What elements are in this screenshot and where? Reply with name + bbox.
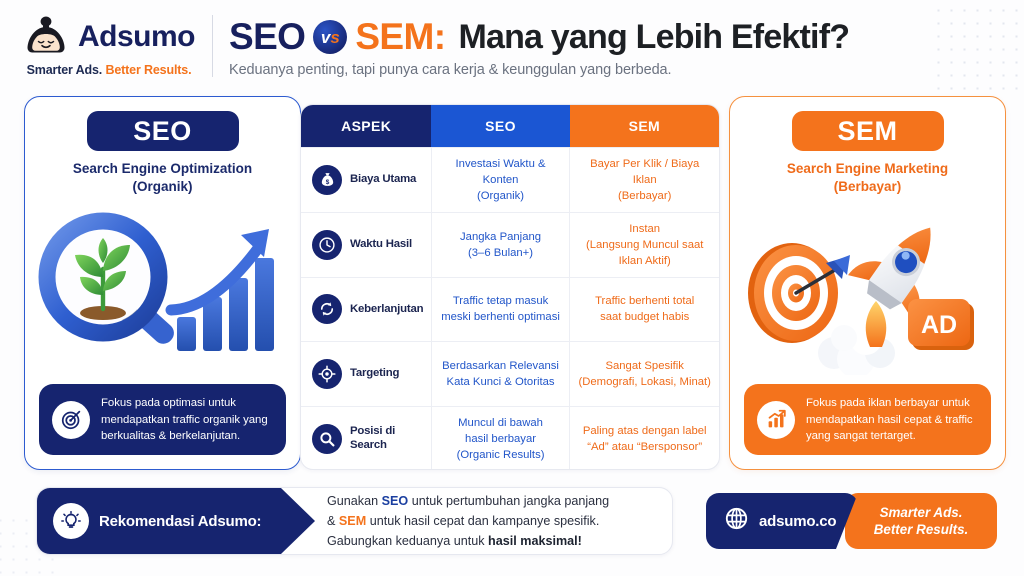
title-seo: SEO bbox=[229, 16, 305, 58]
table-cell-sem: Sangat Spesifik (Demografi, Lokasi, Mina… bbox=[570, 342, 719, 406]
seo-card-subtitle-line1: Search Engine Optimization bbox=[25, 160, 300, 178]
website-button[interactable]: adsumo.co bbox=[706, 493, 858, 549]
table-header-seo: SEO bbox=[431, 105, 569, 147]
table-cell-seo: Jangka Panjang (3–6 Bulan+) bbox=[432, 213, 571, 277]
website-label: adsumo.co bbox=[759, 513, 836, 530]
sem-callout-text: Fokus pada iklan berbayar untuk mendapat… bbox=[806, 395, 978, 444]
table-row: Posisi di Search Muncul di bawah hasil b… bbox=[301, 406, 719, 470]
table-cell-seo: Traffic tetap masuk meski berhenti optim… bbox=[432, 278, 571, 342]
recommendation-bar: Rekomendasi Adsumo: Gunakan SEO untuk pe… bbox=[36, 487, 673, 555]
crosshair-target-icon bbox=[312, 359, 342, 389]
table-cell-aspect: Posisi di Search bbox=[301, 407, 432, 470]
rec-line3-bold: hasil maksimal! bbox=[488, 534, 582, 548]
table-cell-sem: Bayar Per Klik / Biaya Iklan (Berbayar) bbox=[570, 148, 719, 212]
header-divider bbox=[212, 15, 213, 77]
brand-tagline-a: Smarter Ads. bbox=[27, 63, 103, 77]
vs-badge-s: s bbox=[330, 29, 339, 46]
magnifier-icon bbox=[312, 424, 342, 454]
vs-badge-v: v bbox=[321, 29, 330, 46]
sem-callout: Fokus pada iklan berbayar untuk mendapat… bbox=[744, 384, 991, 455]
table-cell-seo: Investasi Waktu & Konten (Organik) bbox=[432, 148, 571, 212]
brand-tagline: Smarter Ads. Better Results. bbox=[27, 63, 192, 77]
clock-icon bbox=[312, 230, 342, 260]
brand-logo[interactable]: Adsumo Smarter Ads. Better Results. bbox=[0, 0, 212, 92]
sem-card: SEM Search Engine Marketing (Berbayar) bbox=[729, 96, 1006, 470]
recommendation-label-block: Rekomendasi Adsumo: bbox=[37, 488, 315, 554]
rec-line2-post: untuk hasil cepat dan kampanye spesifik. bbox=[366, 514, 599, 528]
table-aspect-label: Targeting bbox=[350, 367, 399, 381]
table-cell-aspect: Waktu Hasil bbox=[301, 213, 432, 277]
seo-card-pill: SEO bbox=[87, 111, 239, 151]
footer-tagline-line1: Smarter Ads. bbox=[880, 504, 963, 521]
sem-card-subtitle: Search Engine Marketing (Berbayar) bbox=[730, 160, 1005, 196]
rec-line1-post: untuk pertumbuhan jangka panjang bbox=[408, 494, 609, 508]
comparison-table: ASPEK SEO SEM $ Biaya Utama Investasi Wa… bbox=[300, 104, 720, 470]
growth-bar-chart-icon bbox=[757, 401, 795, 439]
table-cell-aspect: $ Biaya Utama bbox=[301, 148, 432, 212]
table-aspect-label: Waktu Hasil bbox=[350, 238, 412, 252]
footer-tagline-button[interactable]: Smarter Ads. Better Results. bbox=[845, 493, 997, 549]
refresh-cycle-icon bbox=[312, 294, 342, 324]
target-icon bbox=[52, 401, 90, 439]
title-rest: Mana yang Lebih Efektif? bbox=[458, 18, 849, 57]
title-sem: SEM: bbox=[355, 16, 445, 58]
rec-line2-pre: & bbox=[327, 514, 339, 528]
table-cell-sem: Paling atas dengan label “Ad” atau “Bers… bbox=[570, 407, 719, 470]
recommendation-line-3: Gabungkan keduanya untuk hasil maksimal! bbox=[327, 532, 672, 550]
sem-card-subtitle-line2: (Berbayar) bbox=[730, 178, 1005, 196]
rec-line2-sem: SEM bbox=[339, 514, 366, 528]
lightbulb-icon bbox=[53, 503, 89, 539]
seo-card-subtitle: Search Engine Optimization (Organik) bbox=[25, 160, 300, 196]
vs-badge-icon: vs bbox=[313, 20, 347, 54]
table-aspect-label: Keberlanjutan bbox=[350, 303, 423, 317]
seo-callout-text: Fokus pada optimasi untuk mendapatkan tr… bbox=[101, 395, 273, 444]
sumo-mascot-icon bbox=[23, 15, 69, 59]
header-subtitle: Keduanya penting, tapi punya cara kerja … bbox=[229, 62, 849, 78]
table-row: Keberlanjutan Traffic tetap masuk meski … bbox=[301, 277, 719, 342]
table-cell-sem: Traffic berhenti total saat budget habis bbox=[570, 278, 719, 342]
brand-name: Adsumo bbox=[78, 20, 195, 54]
page-title: SEO vs SEM: Mana yang Lebih Efektif? bbox=[229, 16, 849, 58]
table-header-aspek: ASPEK bbox=[301, 105, 431, 147]
rec-line3-pre: Gabungkan keduanya untuk bbox=[327, 534, 488, 548]
recommendation-line-2: & SEM untuk hasil cepat dan kampanye spe… bbox=[327, 512, 672, 530]
table-cell-aspect: Targeting bbox=[301, 342, 432, 406]
recommendation-label: Rekomendasi Adsumo: bbox=[99, 513, 261, 530]
seo-illustration bbox=[25, 205, 300, 375]
table-cell-sem: Instan (Langsung Muncul saat Iklan Aktif… bbox=[570, 213, 719, 277]
table-aspect-label: Biaya Utama bbox=[350, 173, 416, 187]
rec-line1-pre: Gunakan bbox=[327, 494, 382, 508]
seo-card: SEO Search Engine Optimization (Organik) bbox=[24, 96, 301, 470]
infographic-canvas: Adsumo Smarter Ads. Better Results. SEO … bbox=[0, 0, 1024, 576]
brand-tagline-b: Better Results. bbox=[105, 63, 191, 77]
money-bag-icon: $ bbox=[312, 165, 342, 195]
table-cell-aspect: Keberlanjutan bbox=[301, 278, 432, 342]
svg-text:AD: AD bbox=[921, 311, 957, 339]
svg-text:$: $ bbox=[325, 179, 329, 186]
globe-icon bbox=[724, 506, 749, 536]
recommendation-text-block: Gunakan SEO untuk pertumbuhan jangka pan… bbox=[315, 488, 672, 554]
table-row: Targeting Berdasarkan Relevansi Kata Kun… bbox=[301, 341, 719, 406]
seo-card-subtitle-line2: (Organik) bbox=[25, 178, 300, 196]
table-row: Waktu Hasil Jangka Panjang (3–6 Bulan+) … bbox=[301, 212, 719, 277]
header-title-block: SEO vs SEM: Mana yang Lebih Efektif? Ked… bbox=[229, 14, 849, 78]
sem-card-pill: SEM bbox=[792, 111, 944, 151]
seo-callout: Fokus pada optimasi untuk mendapatkan tr… bbox=[39, 384, 286, 455]
table-header-sem: SEM bbox=[570, 105, 719, 147]
table-cell-seo: Muncul di bawah hasil berbayar (Organic … bbox=[432, 407, 571, 470]
rec-line1-seo: SEO bbox=[382, 494, 409, 508]
recommendation-line-1: Gunakan SEO untuk pertumbuhan jangka pan… bbox=[327, 492, 672, 510]
footer-tagline-line2: Better Results. bbox=[874, 521, 969, 538]
table-header-row: ASPEK SEO SEM bbox=[301, 105, 719, 147]
sem-card-subtitle-line1: Search Engine Marketing bbox=[730, 160, 1005, 178]
table-aspect-label: Posisi di Search bbox=[350, 425, 425, 452]
table-row: $ Biaya Utama Investasi Waktu & Konten (… bbox=[301, 147, 719, 212]
table-cell-seo: Berdasarkan Relevansi Kata Kunci & Otori… bbox=[432, 342, 571, 406]
sem-illustration: AD bbox=[730, 205, 1005, 375]
header: Adsumo Smarter Ads. Better Results. SEO … bbox=[0, 0, 1024, 92]
